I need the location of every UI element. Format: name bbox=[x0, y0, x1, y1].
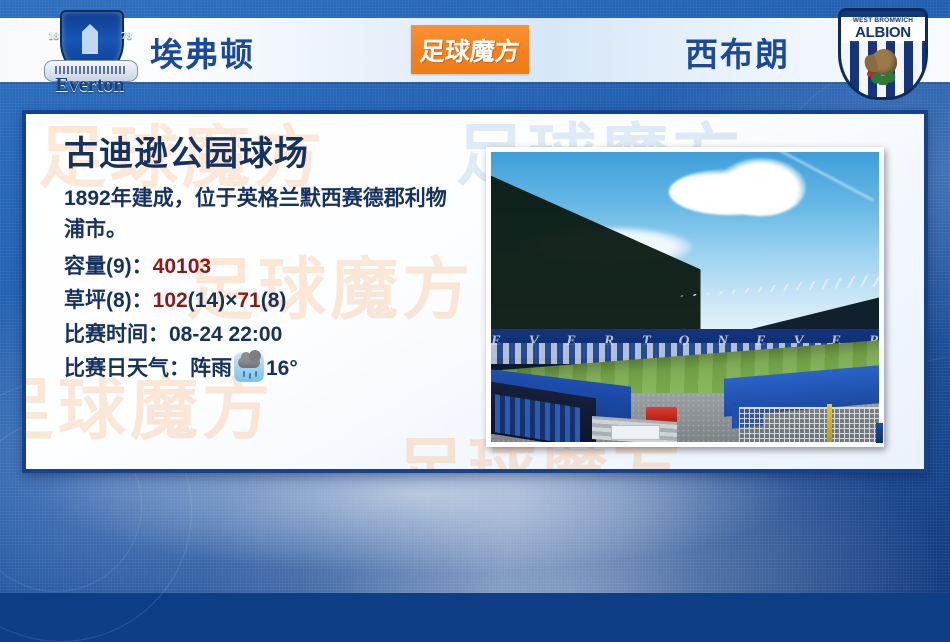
brand-logo-text: 足球魔方 bbox=[419, 32, 522, 68]
weather-icon-wrap bbox=[232, 352, 266, 382]
photo-cloud bbox=[716, 158, 806, 216]
home-team-name: 埃弗顿 bbox=[150, 28, 255, 76]
photo-white-notice bbox=[611, 425, 660, 440]
weather-condition: 阵雨 bbox=[190, 357, 232, 380]
crest-year-right: 78 bbox=[121, 30, 132, 42]
brand-logo: 足球魔方 bbox=[411, 25, 529, 74]
stadium-info-card: 足球魔方 足球魔方 足球魔方 足球魔方 足球魔方 古迪逊公园球场 1892年建成… bbox=[22, 110, 928, 473]
stadium-description: 1892年建成，位于英格兰默西赛德郡利物浦市。 bbox=[64, 183, 459, 245]
footer-glow bbox=[0, 470, 950, 593]
stadium-name: 古迪逊公园球场 bbox=[64, 136, 494, 173]
pitch-label: 草坪(8)： bbox=[64, 289, 153, 312]
crest-shield: WEST BROMWICH ALBION bbox=[838, 8, 928, 100]
crest-wordmark: Everton bbox=[38, 74, 142, 97]
capacity-row: 容量(9)：40103 bbox=[64, 250, 494, 284]
weather-row: 比赛日天气：阵雨16° bbox=[64, 352, 494, 386]
stadium-photo-frame: E V E R T O N E V E R bbox=[486, 147, 884, 447]
match-header: 18 78 Everton 埃弗顿 足球魔方 西布朗 WEST BROMWICH… bbox=[0, 0, 950, 100]
cloud-shape bbox=[238, 357, 260, 368]
capacity-label: 容量(9)： bbox=[64, 255, 153, 278]
crest-line1: WEST BROMWICH bbox=[841, 17, 925, 24]
pitch-times-symbol: × bbox=[225, 289, 237, 312]
stadium-info-block: 古迪逊公园球场 1892年建成，位于英格兰默西赛德郡利物浦市。 容量(9)：40… bbox=[64, 136, 494, 386]
weather-temperature: 16° bbox=[266, 357, 298, 380]
photo-yellow-post bbox=[827, 404, 832, 442]
crest-berry-icon bbox=[867, 71, 873, 77]
crest-year-left: 18 bbox=[48, 30, 59, 42]
away-team-name: 西布朗 bbox=[685, 28, 790, 76]
rain-drop bbox=[249, 373, 251, 379]
rain-shower-icon bbox=[234, 352, 264, 382]
away-team-crest-icon: WEST BROMWICH ALBION bbox=[834, 6, 926, 98]
pitch-width: 71 bbox=[237, 289, 260, 312]
rain-drop bbox=[243, 371, 245, 377]
capacity-value: 40103 bbox=[153, 255, 211, 278]
kickoff-row: 比赛时间：08-24 22:00 bbox=[64, 318, 494, 352]
stadium-photo: E V E R T O N E V E R bbox=[491, 152, 879, 442]
pitch-length-rank: (14) bbox=[188, 289, 225, 312]
pitch-row: 草坪(8)：102(14)×71(8) bbox=[64, 284, 494, 318]
pitch-length: 102 bbox=[153, 289, 188, 312]
kickoff-label: 比赛时间： bbox=[64, 323, 169, 346]
crest-line2: ALBION bbox=[841, 24, 925, 41]
photo-corner-badge bbox=[876, 423, 883, 443]
home-team-crest-icon: 18 78 Everton bbox=[38, 4, 142, 100]
weather-label: 比赛日天气： bbox=[64, 357, 190, 380]
kickoff-value: 08-24 22:00 bbox=[169, 323, 282, 346]
photo-mesh-fence bbox=[739, 407, 879, 442]
pitch-width-rank: (8) bbox=[261, 289, 287, 312]
rain-drop bbox=[255, 371, 257, 377]
